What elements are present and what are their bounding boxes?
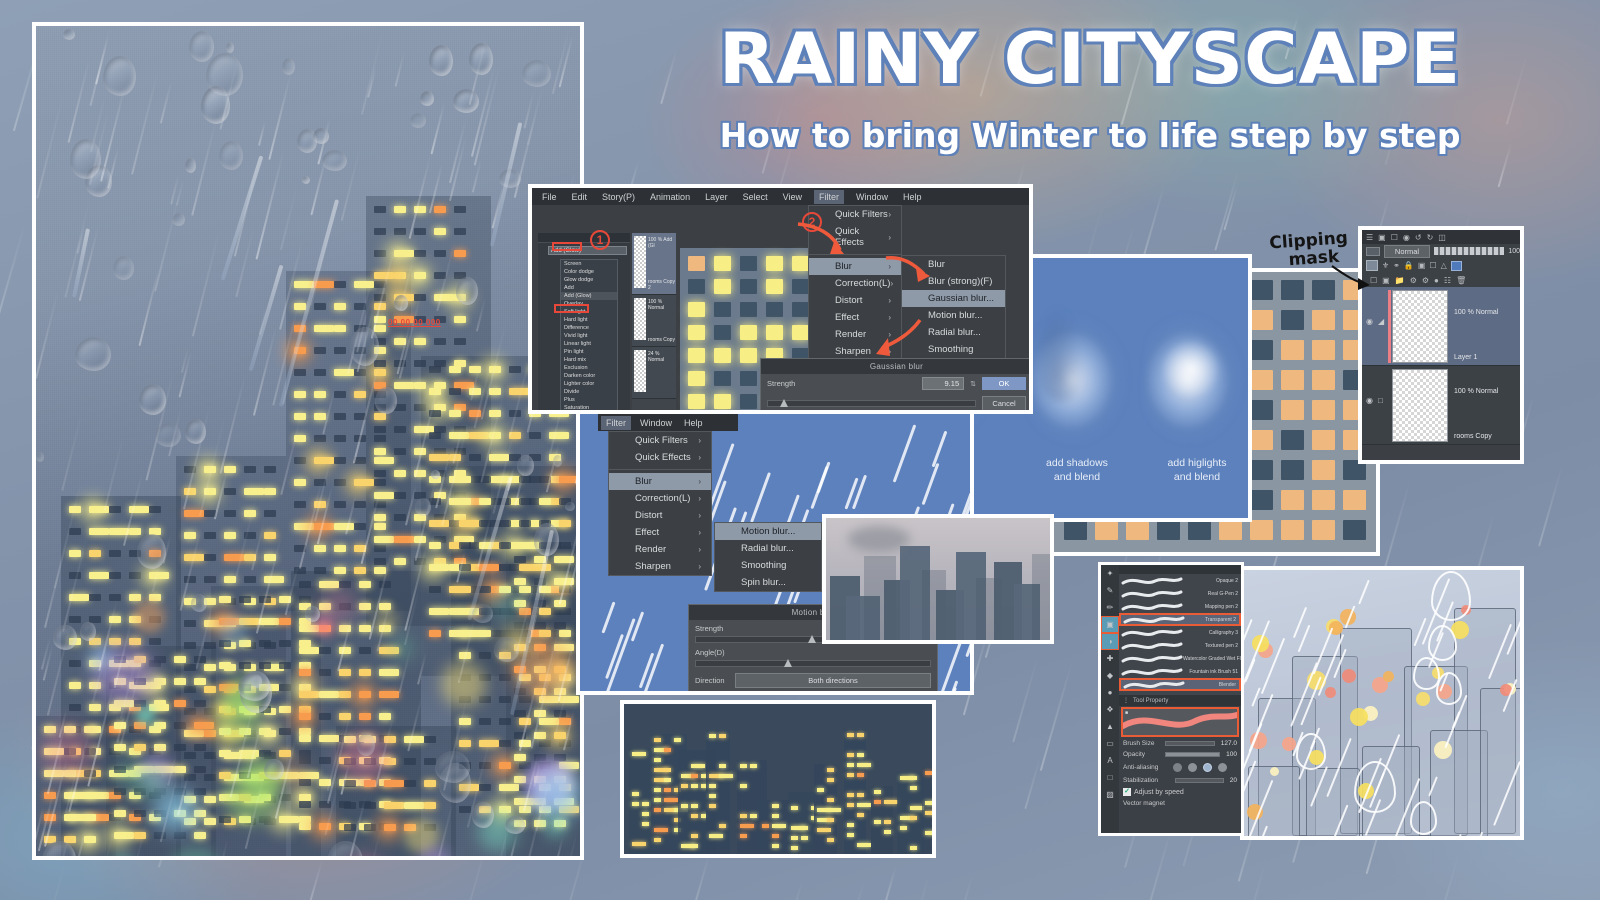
lit-window — [499, 784, 519, 791]
brush-size-value[interactable]: 127.0 — [1221, 740, 1237, 747]
blend-mode-screen[interactable]: Screen — [561, 260, 617, 268]
layer-icon[interactable]: ☐ — [1391, 233, 1398, 242]
sketch-waterdrop-outline — [1413, 657, 1440, 690]
dark-window — [1250, 340, 1273, 360]
menu-item-window[interactable]: Window — [856, 192, 888, 202]
rain-streak — [750, 472, 771, 523]
ok-button[interactable]: OK — [982, 377, 1026, 390]
lit-window — [374, 325, 386, 332]
lit-window — [1312, 310, 1335, 330]
blend-icon[interactable]: ◑ — [1101, 633, 1119, 650]
menu-item-filter[interactable]: Filter — [814, 190, 844, 204]
menu-item-distort[interactable]: Distort› — [609, 507, 711, 524]
mask-add-icon[interactable]: ● — [1434, 276, 1439, 285]
dark-window — [224, 510, 236, 517]
menu-item-motion-blur---[interactable]: Motion blur... — [715, 523, 821, 540]
dark-window — [174, 744, 186, 751]
menu-item-quick-filters[interactable]: Quick Filters› — [609, 432, 711, 449]
dark-window — [499, 740, 511, 747]
menu-item-select[interactable]: Select — [743, 192, 768, 202]
mask-icon[interactable]: ◉ — [1403, 233, 1410, 242]
strength-slider[interactable] — [767, 400, 976, 407]
blend-mode-saturation[interactable]: Saturation — [561, 404, 617, 412]
sketch-waterdrop-outline — [1436, 672, 1462, 705]
lit-window — [84, 726, 96, 733]
new-folder-icon[interactable]: 📁 — [1395, 276, 1405, 285]
gaussian-blur-dialog[interactable]: Gaussian blur Strength 9.15 ⇅ OK Cancel … — [760, 358, 1033, 414]
lit-window — [184, 532, 196, 539]
lit-window — [857, 763, 871, 767]
dark-window — [89, 594, 101, 601]
brush-list-container[interactable]: Opaque 2Real G-Pen 2Mapping pen 2Transpa… — [1119, 565, 1241, 695]
eye-icon[interactable]: ◉ — [1366, 317, 1373, 326]
antialias-option-none[interactable] — [1173, 763, 1182, 772]
fill-icon[interactable]: ● — [1101, 684, 1119, 701]
dark-window — [314, 567, 326, 574]
water-droplet — [219, 141, 243, 170]
dark-window — [184, 752, 196, 759]
water-droplet — [70, 139, 101, 179]
motion-direction-combo[interactable]: Both directions — [735, 673, 931, 688]
dark-window — [469, 454, 481, 461]
blend-mode-darkencolor[interactable]: Darken color — [561, 372, 617, 380]
brush-name: Calligraphy 3 — [1183, 630, 1241, 636]
menu-item-label: Gaussian blur... — [928, 293, 994, 304]
lit-window — [334, 303, 346, 310]
lit-window — [219, 772, 231, 779]
tool-property-header[interactable]: ⋮ Tool Property — [1119, 695, 1241, 706]
new-raster-icon[interactable]: ▣ — [1382, 276, 1390, 285]
brush-list-item[interactable]: Textured pen 2 — [1119, 639, 1241, 652]
menu-item-quick-effects[interactable]: Quick Effects› — [609, 449, 711, 466]
decoration-icon[interactable]: ❖ — [1101, 701, 1119, 718]
water-droplet — [469, 43, 493, 75]
lit-window — [154, 678, 166, 685]
dark-window — [1188, 520, 1211, 540]
lit-window — [414, 338, 426, 345]
delete-icon[interactable]: 🗑 — [1456, 276, 1466, 285]
brush-list[interactable]: Opaque 2Real G-Pen 2Mapping pen 2Transpa… — [1119, 574, 1241, 691]
dark-window — [219, 816, 231, 823]
gradient-icon[interactable]: ◆ — [1101, 667, 1119, 684]
lit-window — [857, 803, 871, 807]
opacity-slider[interactable] — [1434, 247, 1504, 255]
brush-list-item[interactable]: Mapping pen 2 — [1119, 600, 1241, 613]
menu-item-storyp[interactable]: Story(P) — [602, 192, 635, 202]
dark-window — [479, 652, 491, 659]
layer-row[interactable]: 100 % Add (Glrooms Copy 2 — [632, 233, 676, 295]
menu-bar[interactable]: FileEditStory(P)AnimationLayerSelectView… — [532, 188, 1029, 205]
opacity-slider-brush[interactable] — [1165, 752, 1220, 757]
dark-window — [299, 581, 311, 588]
lit-window — [935, 831, 936, 835]
window-glow — [185, 713, 211, 739]
dark-window — [554, 754, 566, 761]
lit-window — [925, 801, 936, 805]
lit-window — [374, 514, 386, 521]
filter-menu-dropdown-2[interactable]: Quick Filters›Quick Effects›Blur›Correct… — [608, 431, 712, 576]
menu-item-radial-blur---[interactable]: Radial blur... — [715, 540, 821, 557]
eye-icon[interactable]: ◉ — [1366, 396, 1373, 405]
lit-window — [69, 550, 81, 557]
dark-window — [299, 750, 311, 757]
dark-window — [519, 520, 531, 527]
lit-window — [654, 828, 668, 832]
menu-item-gaussian-blur---[interactable]: Gaussian blur... — [902, 290, 1005, 307]
dark-window — [374, 426, 386, 433]
window-glow — [490, 753, 516, 779]
brush-list-header[interactable] — [1119, 565, 1241, 574]
layer-row[interactable]: 100 % Normalrooms Copy — [632, 295, 676, 347]
menu-item-help[interactable]: Help — [903, 192, 922, 202]
menu-item-edit[interactable]: Edit — [572, 192, 588, 202]
lit-window — [664, 788, 671, 792]
dark-window — [414, 228, 426, 235]
dark-window — [374, 479, 386, 486]
brush-stroke-preview — [1121, 653, 1183, 665]
brush-list-item[interactable]: Real G-Pen 2 — [1119, 587, 1241, 600]
lit-window — [394, 536, 414, 543]
blend-mode-hardmix[interactable]: Hard mix — [561, 356, 617, 364]
blend-mode-lightercolor[interactable]: Lighter color — [561, 380, 617, 388]
rain-streak — [307, 860, 323, 900]
lit-window — [642, 822, 649, 826]
menu-item-distort[interactable]: Distort› — [809, 292, 901, 309]
menu-item-effect[interactable]: Effect› — [609, 524, 711, 541]
lit-window — [772, 804, 779, 808]
layer-opacity-mode: 100 % Add (Gl — [648, 237, 676, 249]
lit-window — [884, 800, 898, 804]
blend-mode-linearlight[interactable]: Linear light — [561, 340, 617, 348]
text-icon[interactable]: A — [1101, 752, 1119, 769]
dark-window — [499, 718, 511, 725]
antialias-option-weak[interactable] — [1188, 763, 1197, 772]
blur-submenu-dropdown-2[interactable]: Motion blur...Radial blur...SmoothingSpi… — [714, 522, 822, 592]
lit-window — [1312, 520, 1335, 540]
menu-item-view[interactable]: View — [783, 192, 802, 202]
cancel-button[interactable]: Cancel — [982, 396, 1026, 411]
lit-window — [714, 394, 731, 409]
dark-window — [344, 780, 356, 787]
dark-window — [429, 366, 441, 373]
dark-window — [394, 492, 406, 499]
lit-window — [219, 750, 231, 757]
lock-icon[interactable]: 🔒 — [1404, 261, 1414, 270]
lit-window — [632, 752, 646, 756]
layer-row[interactable]: 24 % Normal — [632, 347, 676, 399]
lit-window — [429, 520, 449, 527]
dark-window — [559, 608, 571, 615]
bokeh-light — [154, 789, 197, 832]
lit-window — [429, 630, 441, 637]
add-icon[interactable]: ✚ — [1101, 650, 1119, 667]
dark-window — [1281, 280, 1304, 300]
menu-item-label: Blur (strong)(F) — [928, 276, 992, 287]
dark-window — [334, 281, 346, 288]
menu-item-2-filter[interactable]: Filter — [601, 416, 631, 430]
transparency-icon[interactable]: ▨ — [1101, 786, 1119, 803]
water-droplet — [420, 91, 434, 106]
motion-angle-slider[interactable] — [695, 660, 931, 667]
lit-window — [394, 558, 406, 565]
lit-window — [925, 771, 932, 775]
antialias-option-medium[interactable] — [1203, 763, 1212, 772]
water-droplet — [155, 423, 181, 447]
dark-window — [264, 466, 276, 473]
dark-window — [499, 674, 511, 681]
dark-window — [688, 279, 705, 294]
antialias-option-strong[interactable] — [1218, 763, 1227, 772]
stabilization-value[interactable]: 20 — [1230, 777, 1237, 784]
dark-window — [109, 506, 121, 513]
blend-mode-glowdodge[interactable]: Glow dodge — [561, 276, 617, 284]
menu-bar-secondary[interactable]: FilterWindowHelp — [598, 414, 738, 431]
airbrush-icon[interactable]: ▣ — [1101, 616, 1119, 633]
tool-property-title: Tool Property — [1133, 698, 1168, 704]
lit-window — [664, 768, 671, 772]
clipping-toolbar-row[interactable]: ⚜ ⚭ 🔒 ▣ ☐ △ — [1362, 258, 1520, 273]
menu-item-sharpen[interactable]: Sharpen› — [609, 558, 711, 575]
adjust-by-speed-checkbox[interactable]: ✓ Adjust by speed — [1123, 788, 1184, 796]
menu-item-2-help[interactable]: Help — [684, 418, 703, 428]
brush-list-item[interactable]: Blender — [1119, 678, 1241, 691]
transfer-icon[interactable]: ⚙ — [1410, 276, 1417, 285]
menu-item-label: Sharpen — [635, 561, 671, 572]
dark-window — [740, 371, 757, 386]
layer-action-row[interactable]: ☐ ▣ 📁 ⚙ ⚙ ● ☷ 🗑 — [1362, 273, 1520, 287]
pencil-icon[interactable]: ✏ — [1101, 599, 1119, 616]
opacity-value[interactable]: 100 — [1508, 248, 1520, 255]
lit-window — [514, 754, 526, 761]
ruler-link-icon[interactable]: ▣ — [1418, 261, 1426, 270]
lit-window — [925, 811, 936, 815]
menu-item-2-window[interactable]: Window — [640, 418, 672, 428]
dark-window — [354, 501, 366, 508]
mask-edit-icon[interactable]: △ — [1441, 261, 1447, 270]
dark-window — [404, 758, 416, 765]
water-droplet — [305, 606, 320, 622]
undo-icon[interactable]: ↺ — [1415, 233, 1422, 242]
menu-item-label: Smoothing — [741, 560, 786, 571]
lit-window — [314, 391, 326, 398]
lit-window — [709, 734, 716, 738]
layer-blend-combo[interactable]: Normal — [1384, 245, 1430, 258]
dark-window — [1281, 460, 1304, 480]
tool-property-container: ⋮ Tool Property ■ Brush Size 127.0 Opaci… — [1119, 695, 1241, 833]
lit-window — [847, 793, 854, 797]
brush-size-slider[interactable] — [1165, 741, 1215, 746]
lit-window — [224, 532, 236, 539]
lit-window — [654, 798, 661, 802]
clipping-layer-list[interactable]: ◉◢100 % NormalLayer 1◉□100 % Normalrooms… — [1362, 287, 1520, 445]
lit-window — [654, 788, 661, 792]
brush-list-item[interactable]: Watercolor Graded Wet Flat Tip 17 — [1119, 652, 1241, 665]
dark-window — [554, 622, 566, 629]
lit-window — [1312, 430, 1335, 450]
strength-stepper[interactable]: ⇅ — [970, 380, 976, 388]
bokeh-light — [136, 706, 155, 725]
layer-name: rooms Copy — [1454, 433, 1492, 440]
menu-item-blur[interactable]: Blur› — [609, 473, 711, 490]
dark-window — [319, 713, 331, 720]
lit-window — [654, 808, 661, 812]
menu-item-animation[interactable]: Animation — [650, 192, 690, 202]
menu-item-spin-blur---[interactable]: Spin blur... — [715, 574, 821, 591]
lit-window — [791, 846, 798, 850]
dark-window — [459, 806, 471, 813]
lit-window — [354, 567, 366, 574]
lit-window — [299, 647, 319, 654]
blend-mode-addglow[interactable]: Add (Glow) — [561, 292, 617, 300]
strength-value-field[interactable]: 9.15 — [922, 377, 964, 390]
lit-window — [827, 818, 834, 822]
magic-wand-icon[interactable]: ✦ — [1101, 565, 1119, 582]
lit-window — [299, 691, 319, 698]
clipping-mask-bar — [1388, 290, 1391, 363]
brush-list-item[interactable]: Transparent 2 — [1119, 613, 1241, 626]
lit-window — [642, 802, 649, 806]
layer-panel-toolbar[interactable]: ☰ ▣ ☐ ◉ ↺ ↻ ◫ — [1362, 230, 1520, 244]
rain-streak — [810, 466, 828, 509]
brush-list-item[interactable]: Calligraphy 3 — [1119, 626, 1241, 639]
window-glow — [80, 497, 106, 523]
vector-magnet-label: Vector magnet — [1123, 800, 1165, 807]
clip-empty-icon[interactable]: □ — [1378, 396, 1383, 405]
lit-window — [714, 279, 731, 294]
pen-icon[interactable]: ✎ — [1101, 582, 1119, 599]
merge-icon[interactable]: ⚙ — [1422, 276, 1429, 285]
brush-size-label: Brush Size — [1123, 740, 1159, 747]
lit-window — [857, 733, 864, 737]
motion-mode-combo[interactable]: Box — [735, 694, 931, 695]
dark-window — [374, 545, 386, 552]
dark-window — [339, 581, 351, 588]
menu-item-layer[interactable]: Layer — [705, 192, 728, 202]
brush-name: Textured pen 2 — [1183, 643, 1241, 649]
color-swatch-icon[interactable] — [1451, 261, 1462, 271]
brush-stroke-preview — [1121, 666, 1183, 678]
tool-column[interactable]: ✦✎✏▣◑✚◆●❖▲▭A□▨ — [1101, 565, 1119, 833]
window-glow — [290, 704, 316, 730]
frame-icon[interactable]: ▭ — [1101, 735, 1119, 752]
water-droplet — [375, 387, 397, 414]
silhouette-building — [1032, 554, 1054, 644]
duplicate-icon[interactable]: ☷ — [1444, 276, 1451, 285]
redo-icon[interactable]: ↻ — [1427, 233, 1434, 242]
lit-window — [772, 844, 779, 848]
water-droplet — [80, 622, 96, 641]
blend-mode-colordodge[interactable]: Color dodge — [561, 268, 617, 276]
menu-item-file[interactable]: File — [542, 192, 557, 202]
lit-window — [264, 576, 284, 583]
blend-mode-divide[interactable]: Divide — [561, 388, 617, 396]
water-droplet — [553, 455, 562, 467]
water-droplet — [53, 625, 77, 650]
dark-window — [454, 338, 466, 345]
dark-window — [514, 710, 526, 717]
brush-list-item[interactable]: Fountain ink Brush 51 — [1119, 665, 1241, 678]
lit-window — [1312, 340, 1335, 360]
rain-streak — [1384, 478, 1412, 568]
water-droplet — [189, 31, 214, 62]
dark-window — [224, 488, 236, 495]
dark-window — [204, 642, 216, 649]
lit-window — [384, 802, 404, 809]
brush-name: Fountain ink Brush 51 — [1183, 669, 1241, 675]
shape-icon[interactable]: ▲ — [1101, 718, 1119, 735]
blend-mode-difference[interactable]: Difference — [561, 324, 617, 332]
opacity-value-brush[interactable]: 100 — [1226, 751, 1237, 758]
step-marker-1: 1 — [590, 230, 610, 250]
lock-transparent-icon[interactable]: ⚜ — [1382, 261, 1389, 270]
layer-thumbnails-column: 100 % Add (Glrooms Copy 2100 % Normalroo… — [632, 233, 676, 414]
cube-icon[interactable]: ▣ — [1378, 233, 1386, 242]
lit-window — [740, 325, 757, 340]
lit-window — [674, 738, 681, 742]
brush-list-item[interactable]: Opaque 2 — [1119, 574, 1241, 587]
menu-item-render[interactable]: Render› — [609, 541, 711, 558]
blend-mode-dropdown-list[interactable]: ScreenColor dodgeGlow dodgeAddAdd (Glow)… — [560, 259, 618, 413]
lit-window — [750, 814, 757, 818]
blend-mode-vividlight[interactable]: Vivid light — [561, 332, 617, 340]
lit-window — [827, 808, 841, 812]
arrow-to-gaussian — [884, 254, 936, 288]
menu-item-correction-l-[interactable]: Correction(L)› — [609, 490, 711, 507]
clip-indicator-icon[interactable]: ◢ — [1378, 317, 1384, 326]
lit-window — [359, 713, 371, 720]
lit-window — [539, 630, 551, 637]
link-icon[interactable]: ⚭ — [1393, 261, 1400, 270]
water-droplet — [456, 277, 478, 305]
menu-item-smoothing[interactable]: Smoothing — [715, 557, 821, 574]
blend-mode-add[interactable]: Add — [561, 284, 617, 292]
select-icon[interactable]: ☐ — [1429, 261, 1436, 270]
dark-window — [134, 810, 146, 817]
lit-window — [379, 691, 399, 698]
lit-window — [429, 542, 441, 549]
blend-mode-hardlight[interactable]: Hard light — [561, 316, 617, 324]
stabilization-slider[interactable] — [1175, 778, 1224, 783]
water-droplet — [75, 337, 111, 371]
sketch-building — [1248, 766, 1300, 840]
lit-window — [454, 250, 466, 257]
rain-streak — [639, 643, 664, 695]
grip-icon[interactable]: ⋮ — [1123, 697, 1129, 704]
blend-mode-plus[interactable]: Plus — [561, 396, 617, 404]
lit-window — [459, 740, 471, 747]
ruler-icon[interactable]: ◫ — [1438, 233, 1446, 242]
dark-window — [499, 520, 511, 527]
blend-mode-exclusion[interactable]: Exclusion — [561, 364, 617, 372]
lit-window — [935, 771, 936, 775]
water-droplet — [313, 128, 329, 144]
blend-mode-row[interactable]: Normal 100 — [1362, 244, 1520, 258]
dark-window — [429, 432, 441, 439]
sketch-waterdrop-outline — [1431, 571, 1471, 621]
color-swatch-icon[interactable]: □ — [1101, 769, 1119, 786]
layer-row[interactable]: ◉◢100 % NormalLayer 1 — [1362, 287, 1520, 366]
rain-streak — [1012, 653, 1040, 743]
lit-window — [339, 669, 351, 676]
lit-window — [354, 391, 366, 398]
layer-row[interactable]: ◉□100 % Normalrooms Copy — [1362, 366, 1520, 445]
artwork-red-annotation: 00 00 00 000 — [388, 318, 441, 327]
water-droplet — [522, 60, 551, 87]
blend-mode-pinlight[interactable]: Pin light — [561, 348, 617, 356]
lit-window — [334, 567, 346, 574]
layer-list[interactable]: 100 % Add (Glrooms Copy 2100 % Normalroo… — [632, 233, 676, 399]
dark-window — [259, 750, 271, 757]
